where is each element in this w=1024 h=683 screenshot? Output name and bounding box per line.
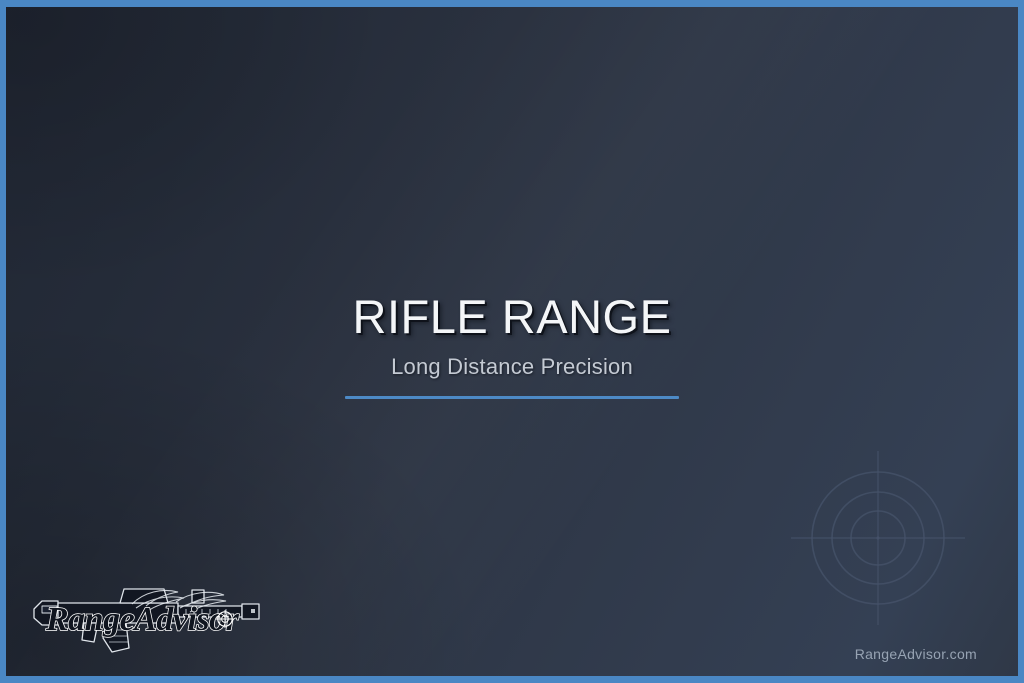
- page-subtitle: Long Distance Precision: [6, 354, 1018, 380]
- svg-text:RangeAdvisor: RangeAdvisor: [45, 601, 240, 638]
- brand-logo: RangeAdvisor: [28, 568, 280, 654]
- footer-url: RangeAdvisor.com: [855, 646, 977, 662]
- page-title: RIFLE RANGE: [6, 292, 1018, 342]
- presentation-slide: RIFLE RANGE Long Distance Precision Rang…: [0, 0, 1024, 683]
- title-block: RIFLE RANGE Long Distance Precision: [6, 292, 1018, 399]
- title-accent-rule: [345, 396, 679, 399]
